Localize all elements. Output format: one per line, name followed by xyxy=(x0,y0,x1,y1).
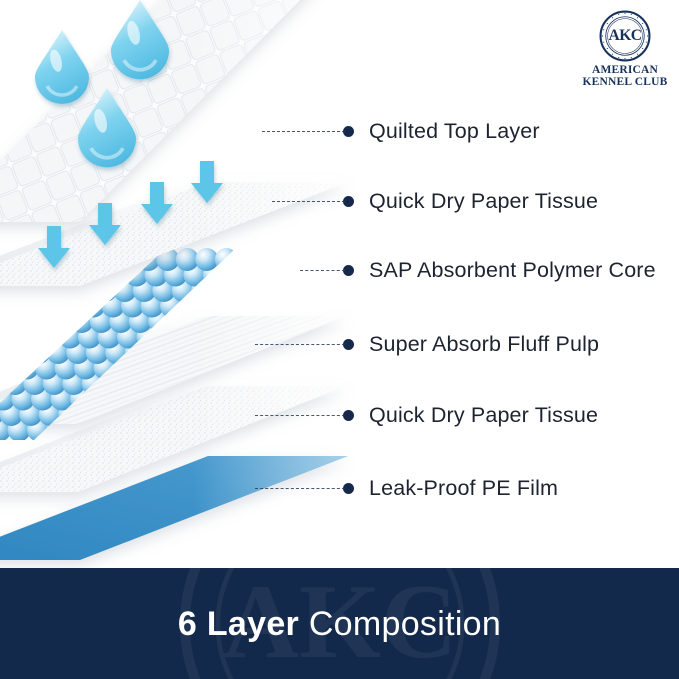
sap-bead xyxy=(433,295,456,318)
callout-label-quilted-top-layer: Quilted Top Layer xyxy=(369,119,540,144)
sap-bead xyxy=(491,372,514,395)
akc-name-line-1: AMERICAN xyxy=(579,64,671,76)
akc-seal-icon: AKC xyxy=(599,10,651,62)
sap-bead xyxy=(472,295,495,318)
sap-bead xyxy=(425,357,448,380)
sap-bead xyxy=(312,248,335,271)
sap-bead xyxy=(347,357,370,380)
sap-bead xyxy=(300,419,323,442)
sap-bead xyxy=(261,419,284,442)
sap-bead xyxy=(355,295,378,318)
sap-bead xyxy=(242,264,265,287)
sap-bead xyxy=(433,372,456,395)
sap-bead xyxy=(570,295,593,318)
sap-bead xyxy=(230,279,253,302)
sap-bead xyxy=(293,248,316,271)
svg-text:AKC: AKC xyxy=(608,27,641,44)
sap-bead xyxy=(472,372,495,395)
sap-bead xyxy=(211,279,234,302)
callout-label-leak-proof-pe-film: Leak-Proof PE Film xyxy=(369,476,558,501)
sap-bead xyxy=(464,357,487,380)
leader-line-leak-proof-pe-film xyxy=(255,488,345,490)
sap-bead xyxy=(8,341,31,364)
sap-bead xyxy=(262,264,285,287)
sap-bead xyxy=(289,357,312,380)
sap-bead xyxy=(289,279,312,302)
sap-bead xyxy=(367,357,390,380)
sap-bead xyxy=(414,295,437,318)
sap-bead xyxy=(94,279,117,302)
sap-bead xyxy=(394,372,417,395)
sap-bead xyxy=(406,357,429,380)
leader-line-super-absorb-fluff-pulp xyxy=(255,344,345,346)
akc-name-line-2: KENNEL CLUB xyxy=(579,76,671,88)
footer-title: 6 Layer Composition xyxy=(0,607,679,641)
sap-bead xyxy=(511,372,534,395)
sap-bead xyxy=(320,264,343,287)
sap-bead xyxy=(659,279,679,302)
sap-bead xyxy=(374,372,397,395)
leader-line-quick-dry-paper-tissue-upper xyxy=(272,201,345,203)
sap-bead xyxy=(511,295,534,318)
sap-bead xyxy=(452,372,475,395)
callout-quilted-top-layer: Quilted Top Layer xyxy=(343,117,540,145)
sap-bead xyxy=(663,248,679,271)
sap-bead xyxy=(27,341,50,364)
sap-bead xyxy=(394,295,417,318)
sap-bead xyxy=(308,357,331,380)
footer-title-bold: 6 Layer xyxy=(178,605,299,643)
infographic-root: AKC AMERICAN KENNEL CLUB Quilted Top Lay… xyxy=(0,0,679,679)
sap-bead xyxy=(445,357,468,380)
callout-label-quick-dry-paper-tissue-upper: Quick Dry Paper Tissue xyxy=(369,189,598,214)
sap-bead xyxy=(609,295,632,318)
callout-leak-proof-pe-film: Leak-Proof PE Film xyxy=(343,474,558,502)
sap-bead xyxy=(375,295,398,318)
sap-bead xyxy=(328,357,351,380)
sap-bead xyxy=(386,357,409,380)
callout-label-sap-absorbent-polymer-core: SAP Absorbent Polymer Core xyxy=(369,258,656,283)
sap-bead xyxy=(16,357,39,380)
sap-bead xyxy=(453,295,476,318)
sap-bead xyxy=(301,264,324,287)
sap-bead xyxy=(0,357,19,380)
callout-label-super-absorb-fluff-pulp: Super Absorb Fluff Pulp xyxy=(369,332,599,357)
sap-bead xyxy=(250,357,273,380)
sap-bead xyxy=(484,357,507,380)
sap-bead xyxy=(281,419,304,442)
sap-bead xyxy=(413,372,436,395)
sap-bead xyxy=(39,326,62,349)
footer-title-light: Composition xyxy=(309,605,501,643)
sap-bead xyxy=(492,295,515,318)
leader-line-quick-dry-paper-tissue-lower xyxy=(255,415,345,417)
footer-banner: AKC 6 Layer Composition xyxy=(0,568,679,679)
callout-sap-absorbent-polymer-core: SAP Absorbent Polymer Core xyxy=(343,256,656,284)
callout-quick-dry-paper-tissue-lower: Quick Dry Paper Tissue xyxy=(343,401,598,429)
callout-label-quick-dry-paper-tissue-lower: Quick Dry Paper Tissue xyxy=(369,403,598,428)
sap-bead xyxy=(355,372,378,395)
sap-bead xyxy=(531,295,554,318)
sap-bead xyxy=(63,295,86,318)
sap-bead xyxy=(82,295,105,318)
sap-bead xyxy=(503,357,526,380)
sap-bead xyxy=(254,248,277,271)
sap-bead xyxy=(234,248,257,271)
sap-bead xyxy=(616,310,639,333)
sap-bead xyxy=(223,264,246,287)
sap-bead xyxy=(671,264,679,287)
sap-bead xyxy=(589,295,612,318)
callout-super-absorb-fluff-pulp: Super Absorb Fluff Pulp xyxy=(343,330,599,358)
water-droplet-1 xyxy=(35,30,89,104)
sap-bead xyxy=(523,357,546,380)
sap-bead xyxy=(320,419,343,442)
sap-bead xyxy=(542,357,565,380)
callout-quick-dry-paper-tissue-upper: Quick Dry Paper Tissue xyxy=(343,187,598,215)
sap-bead xyxy=(597,310,620,333)
sap-bead xyxy=(308,279,331,302)
leader-line-quilted-top-layer xyxy=(262,131,345,133)
sap-bead xyxy=(20,326,43,349)
leader-line-sap-absorbent-polymer-core xyxy=(300,270,345,272)
sap-bead xyxy=(281,264,304,287)
sap-bead xyxy=(628,295,651,318)
sap-bead xyxy=(530,372,553,395)
akc-logo: AKC AMERICAN KENNEL CLUB xyxy=(579,10,671,92)
sap-bead xyxy=(269,279,292,302)
sap-bead xyxy=(273,248,296,271)
sap-bead xyxy=(250,279,273,302)
sap-bead xyxy=(215,248,238,271)
sap-bead xyxy=(269,357,292,380)
sap-bead xyxy=(51,310,74,333)
sap-bead xyxy=(550,295,573,318)
